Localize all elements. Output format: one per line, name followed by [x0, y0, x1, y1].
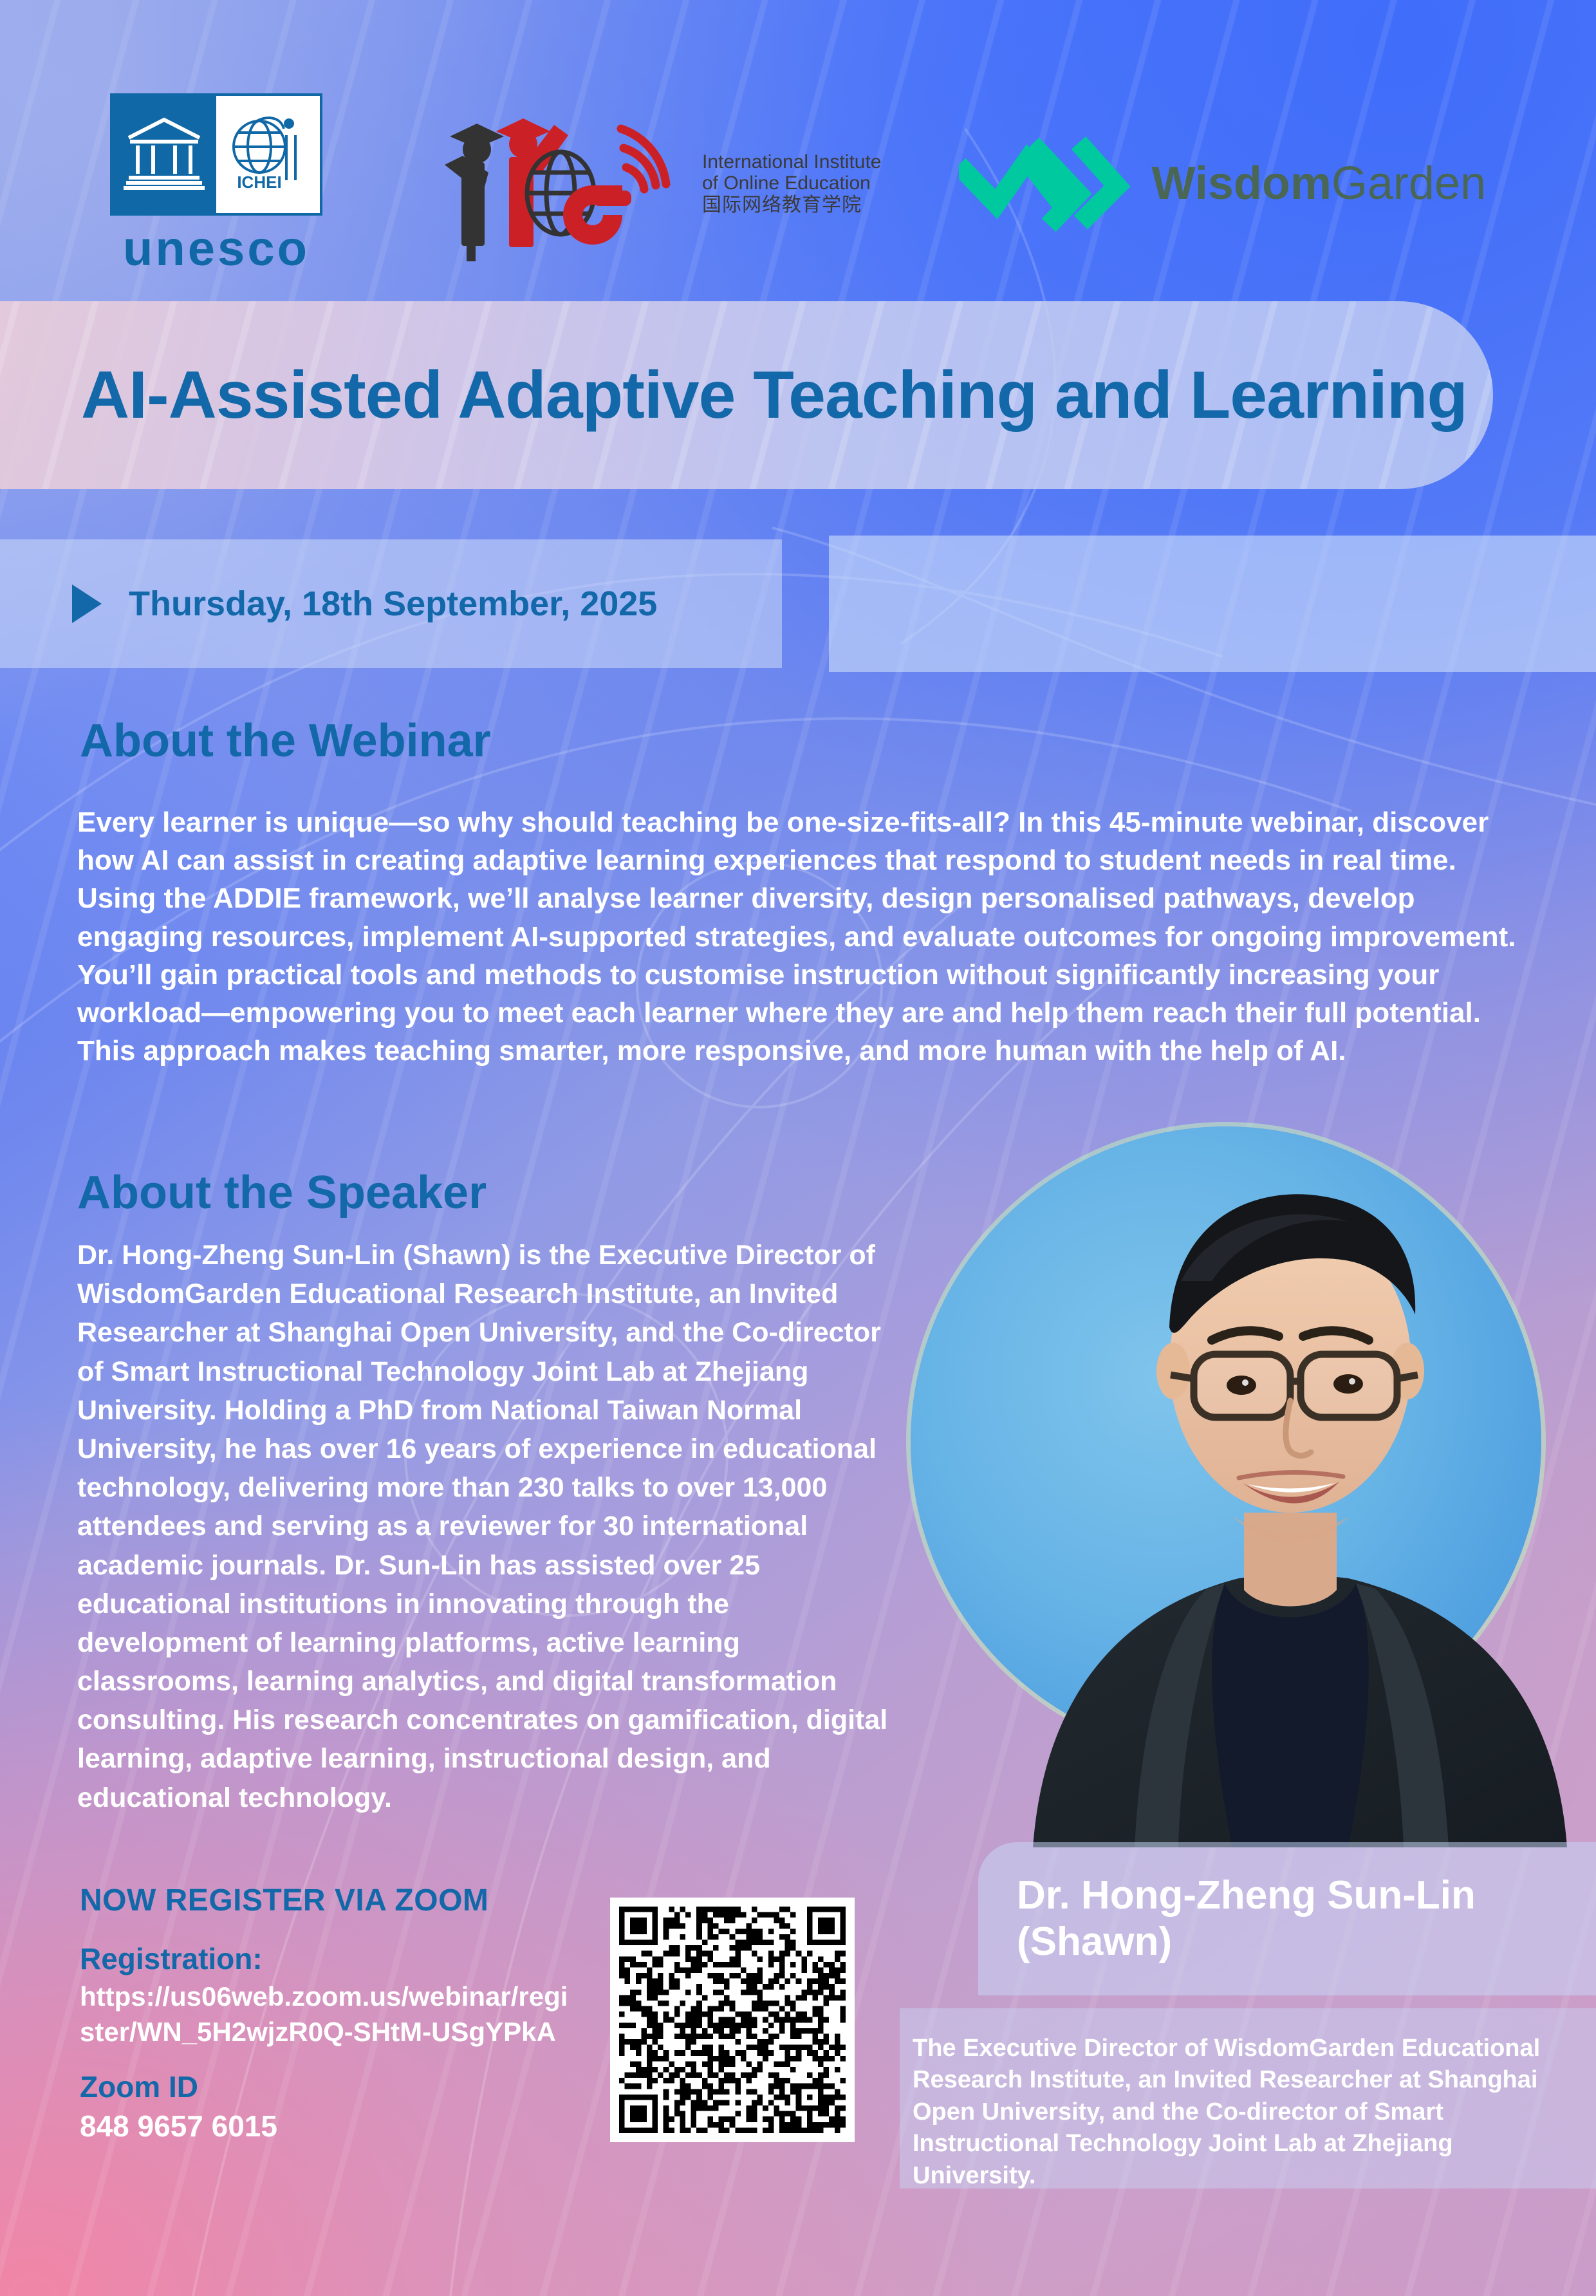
triangle-bullet-icon [72, 584, 102, 623]
about-webinar-heading: About the Webinar [80, 714, 491, 767]
svg-text:ICHEI: ICHEI [237, 173, 282, 192]
iioe-graduates-globe-icon [400, 103, 696, 264]
speaker-name-card: Dr. Hong-Zheng Sun-Lin (Shawn) [978, 1842, 1596, 1995]
speaker-name-line-2: (Shawn) [1017, 1919, 1596, 1965]
unesco-temple-icon: UNESCO [113, 96, 216, 213]
unesco-emblem: UNESCO ICHEI [110, 93, 322, 216]
register-heading: NOW REGISTER VIA ZOOM [80, 1883, 488, 1918]
speaker-name-line-1: Dr. Hong-Zheng Sun-Lin [1017, 1872, 1596, 1919]
registration-url[interactable]: https://us06web.zoom.us/webinar/register… [80, 1979, 569, 2049]
speaker-caption-card: The Executive Director of WisdomGarden E… [900, 2008, 1596, 2189]
iioe-logo: International Institute of Online Educat… [400, 103, 882, 264]
wisdomgarden-w-icon [959, 132, 1133, 235]
photo-circle-backdrop [911, 1126, 1541, 1757]
qr-code-icon[interactable] [610, 1898, 855, 2142]
wisdomgarden-logo: WisdomGarden [959, 132, 1487, 235]
about-webinar-body: Every learner is unique—so why should te… [77, 803, 1532, 1070]
zoom-id-label: Zoom ID [80, 2069, 198, 2104]
webinar-poster: UNESCO ICHEI [0, 0, 1596, 2296]
page-title: AI-Assisted Adaptive Teaching and Learni… [81, 357, 1467, 434]
speaker-portrait-illustration [988, 1088, 1593, 1847]
date-box: Thursday, 18th September, 2025 [0, 539, 782, 668]
unesco-logo: UNESCO ICHEI [110, 93, 322, 274]
webinar-date: Thursday, 18th September, 2025 [129, 584, 657, 624]
registration-label: Registration: [80, 1941, 263, 1976]
iioe-line-3: 国际网络教育学院 [702, 194, 882, 216]
wg-light: Garden [1332, 158, 1486, 209]
about-speaker-body: Dr. Hong-Zheng Sun-Lin (Shawn) is the Ex… [77, 1236, 901, 1817]
ichei-globe-icon: ICHEI [216, 96, 320, 213]
speaker-photo [911, 1088, 1596, 1847]
wg-bold: Wisdom [1152, 158, 1332, 209]
about-speaker-heading: About the Speaker [77, 1166, 487, 1219]
zoom-id-value: 848 9657 6015 [80, 2109, 277, 2143]
iioe-wordmark: International Institute of Online Educat… [702, 151, 882, 216]
speaker-caption-text: The Executive Director of WisdomGarden E… [913, 2033, 1568, 2192]
iioe-line-1: International Institute [702, 151, 882, 173]
time-box: 4:00–5:00 PM (Beijing Time) 8:00–9:00 AM… [829, 536, 1596, 672]
unesco-wordmark: unesco [123, 225, 310, 274]
title-banner: AI-Assisted Adaptive Teaching and Learni… [0, 301, 1493, 489]
logo-row: UNESCO ICHEI [0, 97, 1596, 270]
iioe-line-2: of Online Education [702, 173, 882, 194]
wisdomgarden-wordmark: WisdomGarden [1152, 157, 1487, 210]
